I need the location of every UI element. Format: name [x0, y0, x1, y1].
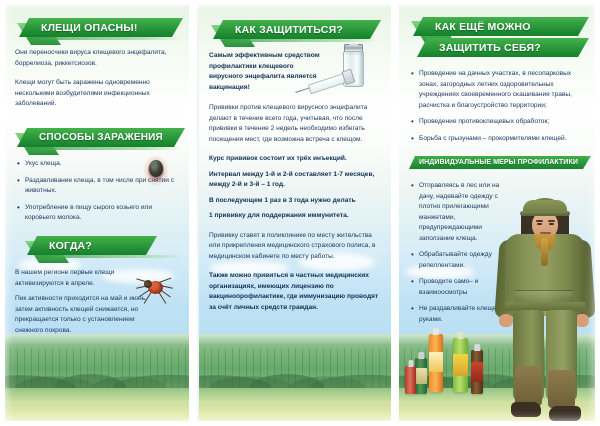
paragraph: Пик активности приходится на май и июнь,…	[15, 294, 147, 336]
zip-placket	[541, 238, 548, 266]
list-item: Проведение на дачных участках, в лесопар…	[411, 69, 587, 111]
bottle-cap	[457, 332, 464, 339]
bottle-cap	[474, 344, 480, 351]
repellent-bottle-dark-green	[415, 358, 427, 394]
section-ticks-are-dangerous: КЛЕЩИ ОПАСНЫ! Они переносчики вируса кле…	[5, 18, 191, 119]
meadow	[5, 404, 191, 426]
banner-wrap-two-line: КАК ЕЩЁ МОЖНО ЗАЩИТИТЬ СЕБЯ?	[413, 17, 589, 57]
shin-left	[515, 366, 542, 406]
repellent-bottle-brown	[471, 350, 483, 394]
man-in-anti-tick-suit	[491, 198, 597, 423]
boot-right	[549, 406, 581, 421]
list-item: Раздавливание клеща, в том числе при сня…	[17, 176, 181, 197]
meadow	[199, 404, 391, 426]
other-protection-bullets: Проведение на дачных участках, в лесопар…	[411, 69, 587, 144]
paragraph: Курс прививок состоит их трёх инъекций.	[209, 154, 381, 165]
banner-how-to-protect: КАК ЗАЩИТИТЬСЯ?	[213, 20, 381, 39]
bottle-label	[415, 368, 427, 384]
section-transmission-routes: СПОСОБЫ ЗАРАЖЕНИЯ Укус клеща. Раздавлива…	[5, 128, 191, 230]
repellent-spray-bottles	[405, 328, 495, 398]
eyebrow	[548, 220, 555, 222]
protect-lead-text: Самым эффективным средством профилактики…	[199, 51, 391, 93]
banner-other-protection-line2: ЗАЩИТИТЬ СЕБЯ?	[417, 38, 589, 57]
banner-shadow	[25, 147, 183, 150]
forest-photo-left	[5, 334, 191, 426]
bottle-cap	[418, 352, 424, 359]
treeline	[199, 348, 391, 388]
brochure-page: КЛЕЩИ ОПАСНЫ! Они переносчики вируса кле…	[0, 0, 600, 426]
lead-paragraph: Самым эффективным средством профилактики…	[209, 51, 325, 93]
banner-wrap: КОГДА?	[27, 236, 157, 255]
banner-shadow	[27, 37, 181, 40]
forest-photo-middle	[199, 334, 391, 426]
transmission-bullets: Укус клеща. Раздавливание клеща, в том ч…	[17, 159, 181, 224]
banner-transmission-routes: СПОСОБЫ ЗАРАЖЕНИЯ	[17, 128, 185, 147]
column-left: КЛЕЩИ ОПАСНЫ! Они переносчики вируса кле…	[5, 0, 191, 426]
panel-gutter-left	[189, 0, 197, 426]
bottle-label	[429, 352, 443, 372]
list-item: Проведение противоклещевых обработок;	[411, 117, 587, 128]
ticks-dangerous-text: Они переносчики вируса клещевого энцефал…	[5, 48, 191, 110]
banner-shadow	[35, 255, 183, 258]
banner-other-protection-line1: КАК ЕЩЁ МОЖНО	[413, 17, 589, 36]
subbanner-wrap: ИНДИВИДУАЛЬНЫЕ МЕРЫ ПРОФИЛАКТИКИ	[409, 156, 591, 169]
paragraph: Они переносчики вируса клещевого энцефал…	[15, 48, 181, 69]
paragraph: Прививку ставят в поликлинике по месту ж…	[209, 231, 381, 263]
section-when: КОГДА? В нашем регионе первые клещи акти…	[5, 236, 191, 345]
where-to-vaccinate-text: Прививку ставят в поликлинике по месту ж…	[199, 231, 391, 263]
banner-wrap: КЛЕЩИ ОПАСНЫ!	[19, 18, 183, 37]
repellent-bottle-orange	[429, 334, 443, 392]
banner-ticks-are-dangerous: КЛЕЩИ ОПАСНЫ!	[19, 18, 183, 37]
shin-right	[548, 370, 575, 408]
hand-right	[575, 314, 589, 327]
list-item: Борьба с грызунами – прокормителями клещ…	[411, 134, 587, 145]
when-text: В нашем регионе первые клещи активизирую…	[5, 268, 191, 336]
paragraph: Также можно привиться в частных медицинс…	[209, 271, 381, 313]
list-item: Укус клеща.	[17, 159, 181, 170]
treeline	[5, 348, 191, 388]
paragraph: Интервал между 1-й и 2-й составляет 1-7 …	[209, 170, 381, 191]
column-middle: КАК ЗАЩИТИТЬСЯ? Самым эффективным средст…	[199, 0, 391, 426]
paragraph: В нашем регионе первые клещи активизирую…	[15, 268, 135, 289]
hand-left	[499, 314, 513, 327]
panel-gutter-right	[391, 0, 399, 426]
paragraph: 1 прививку для поддержания иммунитета.	[209, 211, 381, 222]
column-right: КАК ЕЩЁ МОЖНО ЗАЩИТИТЬ СЕБЯ? Проведение …	[399, 0, 597, 426]
paragraph: В последующем 1 раз в 3 года нужно делат…	[209, 196, 381, 207]
repellent-bottle-green-large	[453, 338, 468, 392]
banner-wrap: СПОСОБЫ ЗАРАЖЕНИЯ	[17, 128, 185, 147]
vaccination-schedule-text: Прививки против клещевого вирусного энце…	[199, 103, 391, 145]
bottle-cap	[408, 360, 413, 367]
cap	[523, 200, 567, 215]
section-other-protection: КАК ЕЩЁ МОЖНО ЗАЩИТИТЬ СЕБЯ? Проведение …	[399, 17, 597, 150]
section-how-to-protect: КАК ЗАЩИТИТЬСЯ? Самым эффективным средст…	[199, 20, 391, 322]
eyebrow	[536, 220, 543, 222]
subbanner-personal-measures: ИНДИВИДУАЛЬНЫЕ МЕРЫ ПРОФИЛАКТИКИ	[409, 156, 591, 169]
paragraph: Клещи могут быть заражены одновременно н…	[15, 78, 181, 110]
repellent-bottle-red	[405, 366, 416, 394]
list-item: Употребление в пищу сырого козьего или к…	[17, 203, 181, 224]
vaccination-course-text: Курс прививок состоит их трёх инъекций. …	[199, 154, 391, 222]
boot-left	[511, 402, 541, 417]
banner-when: КОГДА?	[27, 236, 157, 255]
bottle-cap	[433, 328, 439, 335]
banner-wrap: КАК ЗАЩИТИТЬСЯ?	[213, 20, 381, 39]
paragraph: Прививки против клещевого вирусного энце…	[209, 103, 381, 145]
private-clinics-text: Также можно привиться в частных медицинс…	[199, 271, 391, 313]
bottle-label	[453, 354, 468, 376]
bottle-label	[471, 362, 483, 382]
